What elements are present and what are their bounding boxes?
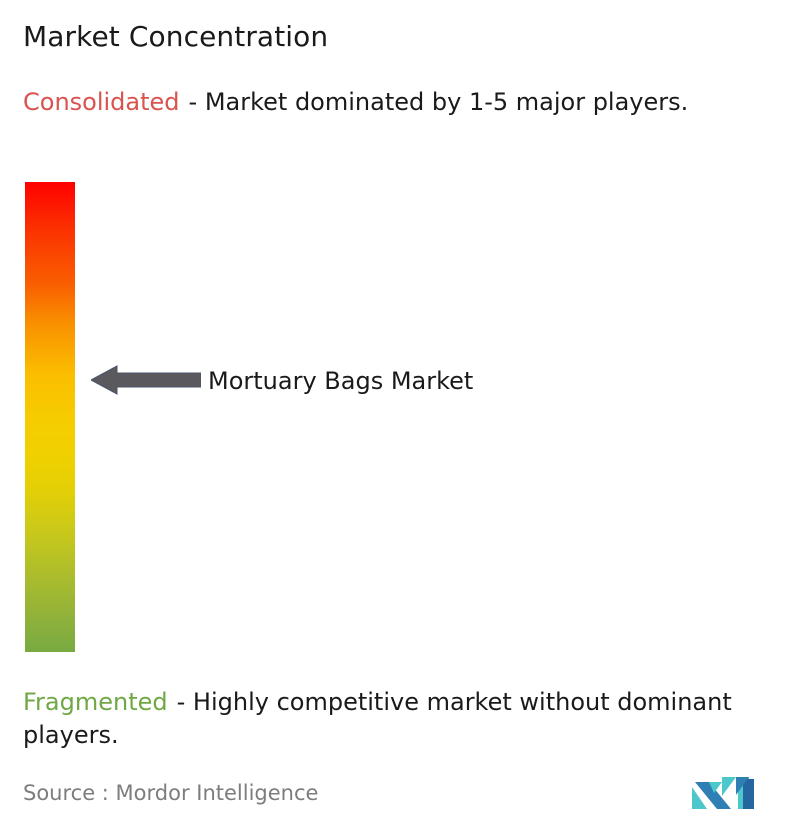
- page-title: Market Concentration: [23, 20, 328, 54]
- left-arrow-icon: [91, 364, 201, 396]
- legend-description-consolidated: - Market dominated by 1-5 major players.: [189, 88, 689, 116]
- concentration-scale-bar: [25, 182, 75, 652]
- legend-fragmented: Fragmented- Highly competitive market wi…: [23, 686, 783, 752]
- legend-term-fragmented: Fragmented: [23, 688, 168, 716]
- legend-consolidated: Consolidated- Market dominated by 1-5 ma…: [23, 86, 763, 119]
- market-pointer-arrow: [91, 364, 201, 396]
- source-attribution: Source : Mordor Intelligence: [23, 780, 318, 807]
- legend-term-consolidated: Consolidated: [23, 88, 180, 116]
- market-concentration-infographic: Market Concentration Consolidated- Marke…: [0, 0, 796, 834]
- mordor-intelligence-logo-icon: [692, 771, 764, 809]
- brand-logo: [692, 771, 764, 809]
- market-pointer-label: Mortuary Bags Market: [208, 366, 473, 396]
